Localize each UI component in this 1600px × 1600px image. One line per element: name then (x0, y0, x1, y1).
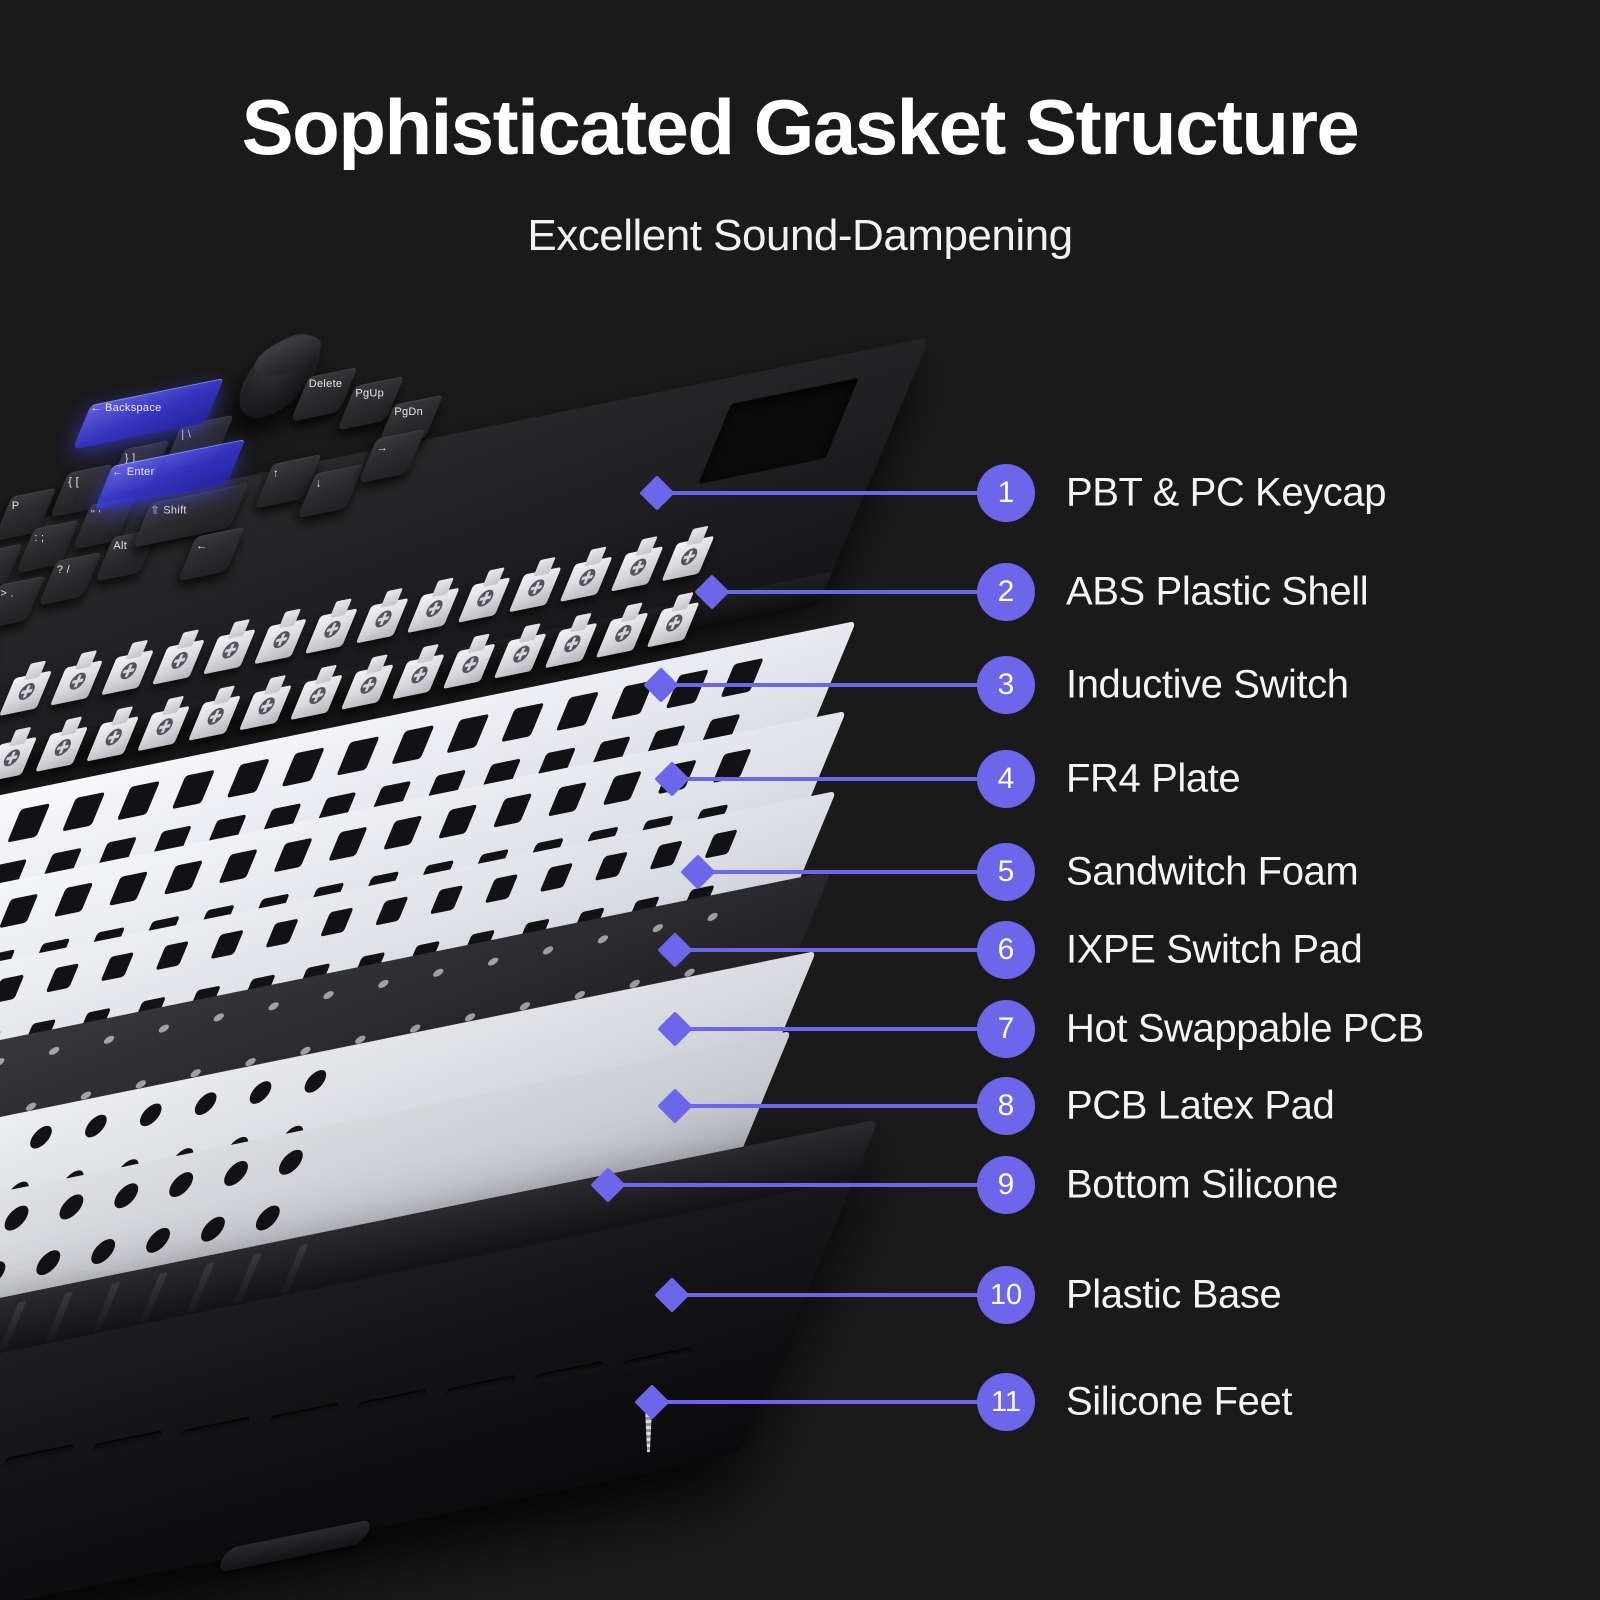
assembly-screw (642, 1400, 655, 1452)
layer-cutout (54, 882, 93, 917)
base-vent (2, 1444, 75, 1468)
keycap-legend: ↑ (273, 468, 279, 480)
keycap-legend: Delete (309, 378, 343, 390)
layer-cutout (0, 1057, 6, 1067)
layer-cutout (432, 968, 445, 978)
inductive-switch (494, 633, 547, 678)
layer-cutout (46, 963, 80, 992)
layer-cutout (322, 990, 335, 1000)
callout-number-badge[interactable]: 10 (977, 1266, 1035, 1324)
inductive-switch (0, 681, 1, 726)
layer-cutout (164, 860, 203, 895)
keycap-legend: ← Enter (112, 466, 154, 478)
layer-cutout (540, 863, 574, 892)
callout-number-badge[interactable]: 9 (977, 1156, 1035, 1214)
inductive-switch (254, 619, 307, 664)
inductive-switch (50, 660, 103, 705)
layer-cutout (212, 1013, 225, 1023)
inductive-switch (545, 623, 598, 668)
layer-cutout (320, 907, 354, 936)
base-vent (90, 1430, 163, 1454)
base-vent (179, 1416, 252, 1440)
layer-cutout (377, 979, 390, 989)
layer-cutout (493, 793, 532, 828)
keycap-legend: ← (196, 540, 207, 552)
layer-cutout (191, 1091, 220, 1117)
inductive-switch (137, 706, 190, 751)
base-vent (532, 1361, 605, 1385)
layer-cutout (336, 736, 379, 775)
layer-cutout (197, 1215, 229, 1244)
layer-cutout (0, 894, 38, 929)
layer-cutout (0, 1259, 9, 1288)
layer-cutout (649, 840, 683, 869)
keycap-legend: PgUp (355, 387, 384, 399)
keycap-legend: ⇧ Shift (150, 504, 186, 517)
callout-number-badge[interactable]: 11 (977, 1373, 1035, 1431)
callout-label: PBT & PC Keycap (1066, 471, 1386, 516)
inductive-switch (239, 685, 292, 730)
layer-cutout (220, 1159, 252, 1188)
callout-number-badge[interactable]: 8 (977, 1077, 1035, 1135)
layer-cutout (485, 874, 519, 903)
layer-cutout (556, 692, 599, 731)
inductive-switch (443, 644, 496, 689)
keycap-legend: : ; (34, 532, 44, 544)
inductive-switch (458, 577, 511, 622)
base-vent (267, 1402, 340, 1426)
layer-cutout (275, 1148, 307, 1177)
callout-label: Plastic Base (1066, 1273, 1281, 1318)
layer-cutout (7, 803, 50, 842)
layer-cutout (102, 1035, 115, 1045)
inductive-switch (203, 629, 256, 674)
layer-cutout (27, 1124, 56, 1150)
inductive-switch (86, 716, 139, 761)
layer-cutout (109, 871, 148, 906)
base-vent (355, 1388, 428, 1412)
keycap-legend: → (377, 442, 388, 454)
layer-cutout (165, 1170, 197, 1199)
header: Sophisticated Gasket Structure Excellent… (0, 0, 1600, 258)
base-vent (444, 1375, 517, 1399)
page-title: Sophisticated Gasket Structure (0, 88, 1600, 166)
inductive-switch (152, 639, 205, 684)
layer-cutout (32, 1248, 64, 1277)
callout-number-badge[interactable]: 3 (977, 656, 1035, 714)
callout-label: ABS Plastic Shell (1066, 570, 1368, 615)
keycap-legend: | \ (181, 429, 191, 441)
layer-cutout (265, 919, 299, 948)
layer-cutout (0, 1135, 1, 1161)
layer-cutout (1, 1204, 33, 1233)
layer-cutout (430, 885, 464, 914)
inductive-switch (647, 602, 700, 647)
layer-cutout (252, 1204, 284, 1233)
callout-number-badge[interactable]: 4 (977, 750, 1035, 808)
layer-cutout (56, 1192, 88, 1221)
exploded-keyboard-render: IOP{ [} ]| \JKL: ;" 'M< ,> .? /AltFnDele… (0, 300, 920, 1600)
layer-cutout (62, 792, 105, 831)
inductive-switch (509, 567, 562, 612)
layer-cutout (328, 827, 367, 862)
layer-cutout (218, 849, 257, 884)
layer-cutout (657, 760, 696, 795)
callout-number-badge[interactable]: 1 (977, 464, 1035, 522)
layer-cutout (651, 923, 664, 933)
inductive-switch (305, 608, 358, 653)
inductive-switch (560, 556, 613, 601)
keycap-legend: ? / (57, 564, 70, 576)
layer-cutout (706, 912, 719, 922)
layer-cutout (157, 1024, 170, 1034)
layer-cutout (383, 815, 422, 850)
inductive-switch (662, 536, 715, 581)
layer-cutout (110, 1181, 142, 1210)
inductive-switch (356, 598, 409, 643)
inductive-switch (596, 612, 649, 657)
base-vent (620, 1347, 693, 1371)
layer-cutout (438, 804, 477, 839)
layer-cutout (267, 1001, 280, 1011)
callout-number-badge[interactable]: 6 (977, 921, 1035, 979)
callout-label: Silicone Feet (1066, 1380, 1292, 1425)
layer-cutout (391, 725, 434, 764)
layer-cutout (87, 1237, 119, 1266)
inductive-switch (407, 588, 460, 633)
layer-cutout (0, 974, 24, 1003)
keycap-legend: P (12, 500, 20, 512)
layer-cutout (596, 934, 609, 944)
callout-label: PCB Latex Pad (1066, 1084, 1334, 1129)
layer-cutout (281, 747, 324, 786)
keycap-legend: ← Backspace (90, 402, 161, 414)
callout-number-badge[interactable]: 5 (977, 843, 1035, 901)
layer-cutout (48, 1046, 61, 1056)
layer-cutout (117, 781, 160, 820)
keycap-legend: ↓ (316, 477, 322, 489)
inductive-switch (290, 675, 343, 720)
keycap-legend: PgDn (394, 406, 423, 418)
callout-label: Hot Swappable PCB (1066, 1007, 1424, 1052)
inductive-switch (0, 671, 52, 716)
callout-number-badge[interactable]: 2 (977, 563, 1035, 621)
keycap-legend: Alt (113, 540, 127, 552)
inductive-switch (188, 695, 241, 740)
callout-label: FR4 Plate (1066, 757, 1240, 802)
layer-cutout (541, 946, 554, 956)
keycap-legend: " ' (91, 508, 101, 520)
keycap[interactable]: > . (0, 576, 45, 630)
layer-cutout (101, 952, 135, 981)
layer-cutout (136, 1102, 165, 1128)
layer-cutout (720, 658, 763, 697)
layer-cutout (81, 1113, 110, 1139)
gasket-structure-infographic: Sophisticated Gasket Structure Excellent… (0, 0, 1600, 1600)
layer-cutout (594, 852, 628, 881)
layer-cutout (375, 896, 409, 925)
callout-number-badge[interactable]: 7 (977, 1000, 1035, 1058)
layer-cutout (142, 1226, 174, 1255)
inductive-switch (392, 654, 445, 699)
layer-cutout (227, 759, 270, 798)
layer-cutout (246, 1079, 275, 1105)
layer-cutout (210, 930, 244, 959)
layer-cutout (487, 957, 500, 967)
inductive-switch (0, 737, 37, 782)
layer-cutout (301, 1068, 330, 1094)
layer-cutout (155, 941, 189, 970)
layer-cutout (548, 782, 587, 817)
layer-cutout (603, 771, 642, 806)
layer-cutout (172, 770, 215, 809)
callout-label: Inductive Switch (1066, 663, 1349, 708)
layer-cutout (712, 748, 751, 783)
layer-cutout (273, 838, 312, 873)
inductive-switch (611, 546, 664, 591)
layer-cutout (501, 703, 544, 742)
callout-label: IXPE Switch Pad (1066, 928, 1362, 973)
inductive-switch (101, 650, 154, 695)
layer-cutout (611, 680, 654, 719)
callout-label: Bottom Silicone (1066, 1163, 1338, 1208)
inductive-switch (35, 726, 88, 771)
layer-cutout (704, 829, 738, 858)
inductive-switch (341, 664, 394, 709)
keycap[interactable]: → (358, 429, 425, 484)
page-subtitle: Excellent Sound-Dampening (0, 214, 1600, 258)
layer-cutout (666, 669, 709, 708)
keycap-legend: > . (0, 588, 13, 600)
callout-label: Sandwitch Foam (1066, 850, 1358, 895)
layer-cutout (446, 714, 489, 753)
keycap-legend: { [ (68, 476, 79, 488)
